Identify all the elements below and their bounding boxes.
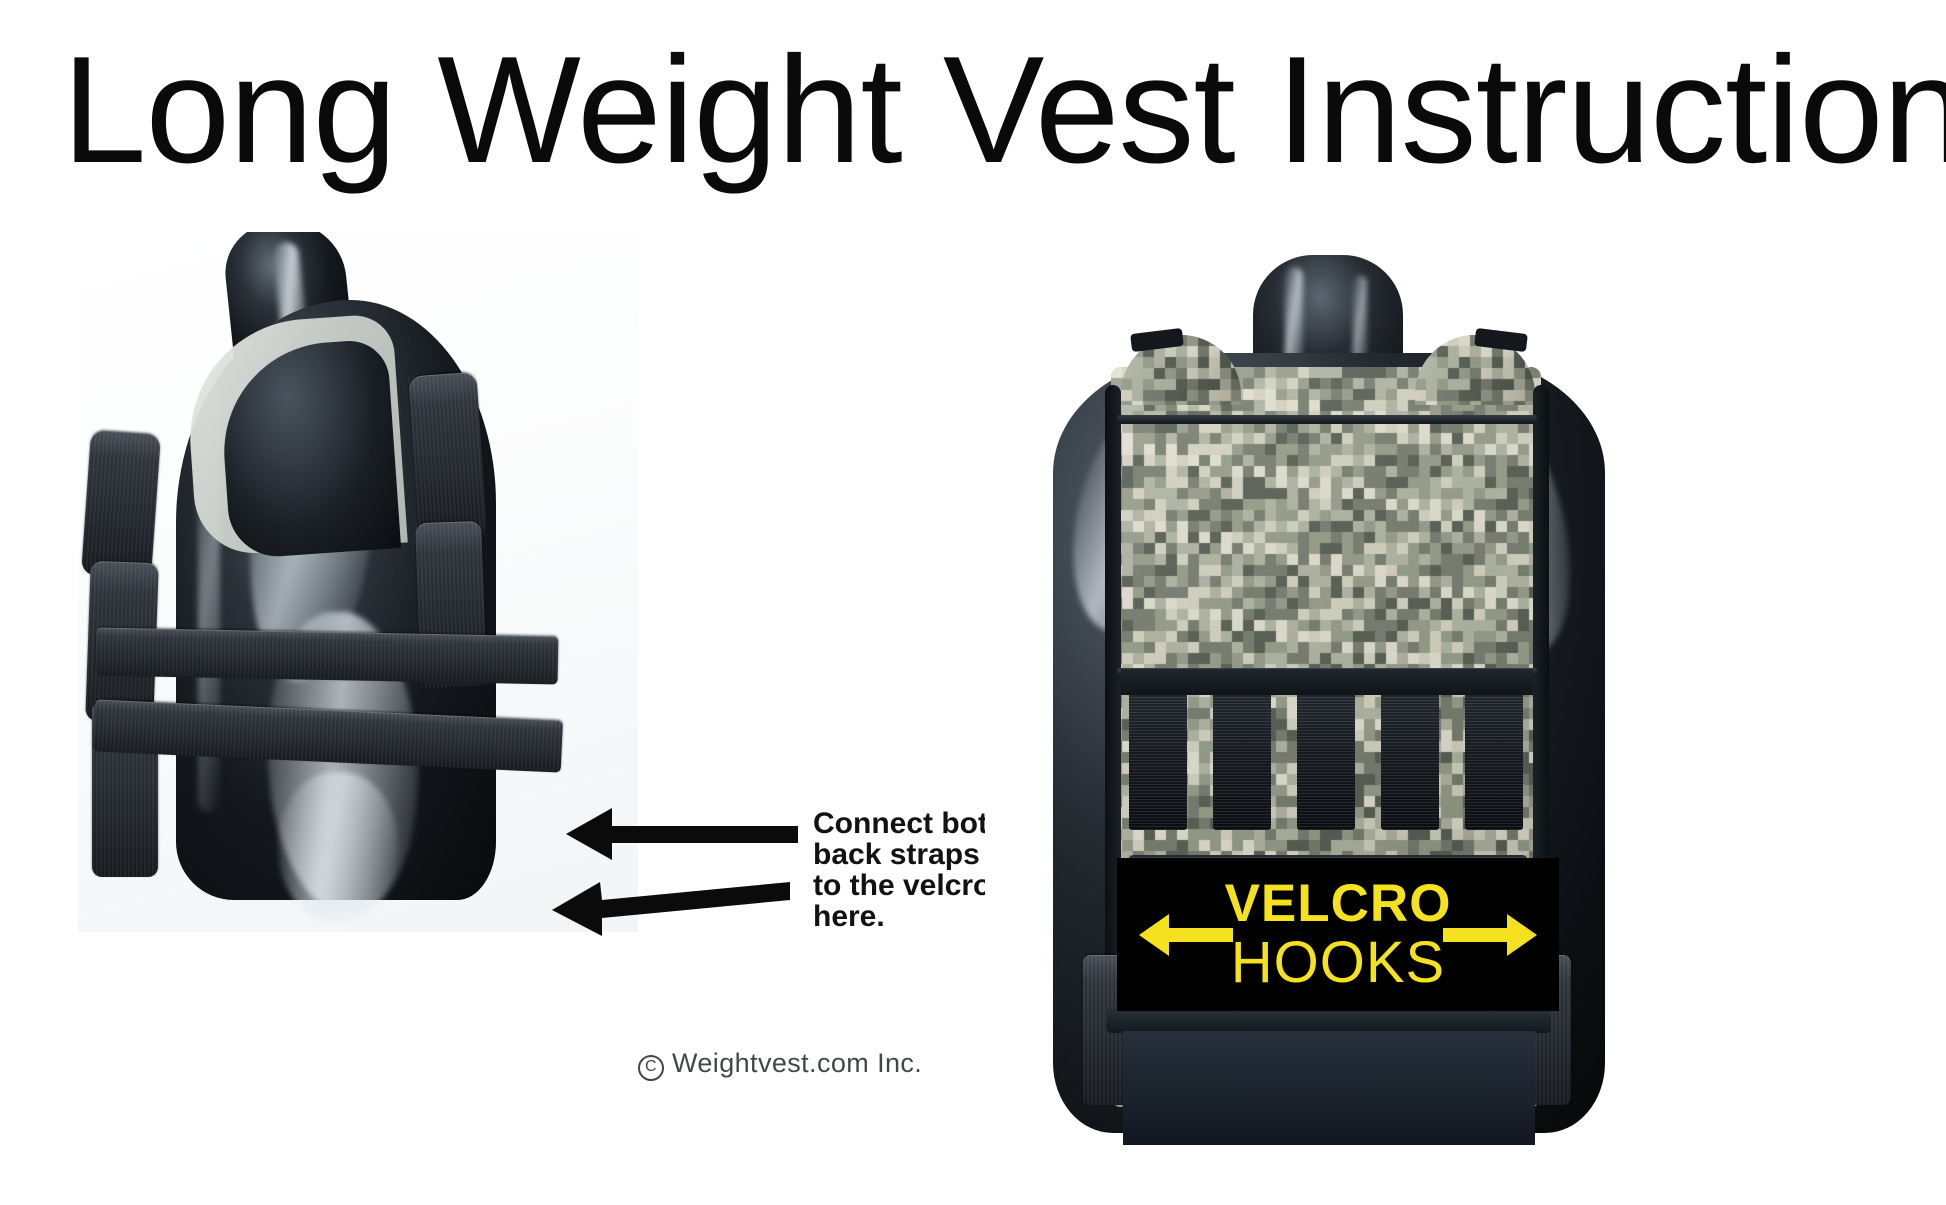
molle-tab — [1381, 675, 1439, 830]
hooks-label: HOOKS — [1231, 934, 1446, 992]
molle-row-backing — [1121, 669, 1533, 695]
copyright-icon: C — [638, 1055, 664, 1081]
vest-side-pocket-left-upper — [81, 430, 161, 580]
annotation-text: Connect both back straps to the velcro h… — [813, 808, 1006, 932]
torso-bottom-highlight — [278, 772, 398, 922]
velcro-banner-labels: VELCRO HOOKS — [1225, 877, 1452, 992]
banner-arrow-left-icon — [1139, 912, 1233, 958]
annotation-arrow-lower — [552, 872, 790, 938]
copyright-notice: CWeightvest.com Inc. — [638, 1048, 922, 1081]
molle-webbing-row — [1121, 675, 1533, 835]
camo-vest-back-view-photo — [985, 255, 1665, 1145]
velcro-label: VELCRO — [1225, 877, 1452, 930]
vest-top-flap-seam — [1117, 415, 1537, 424]
page-title: Long Weight Vest Instructions — [62, 34, 1882, 186]
molle-tab — [1129, 675, 1187, 830]
mannequin-back-view-photo — [78, 232, 638, 932]
annotation-arrow-upper — [566, 804, 798, 864]
copyright-text: Weightvest.com Inc. — [672, 1048, 922, 1078]
molle-tab — [1465, 675, 1523, 830]
upper-back-strap — [96, 628, 559, 685]
vest-side-pocket-right-upper — [408, 372, 487, 541]
molle-tab — [1297, 675, 1355, 830]
velcro-hooks-banner: VELCRO HOOKS — [1117, 858, 1559, 1011]
banner-arrow-right-icon — [1443, 912, 1537, 958]
molle-tab — [1213, 675, 1271, 830]
vest-bottom-skirt — [1123, 1031, 1535, 1145]
